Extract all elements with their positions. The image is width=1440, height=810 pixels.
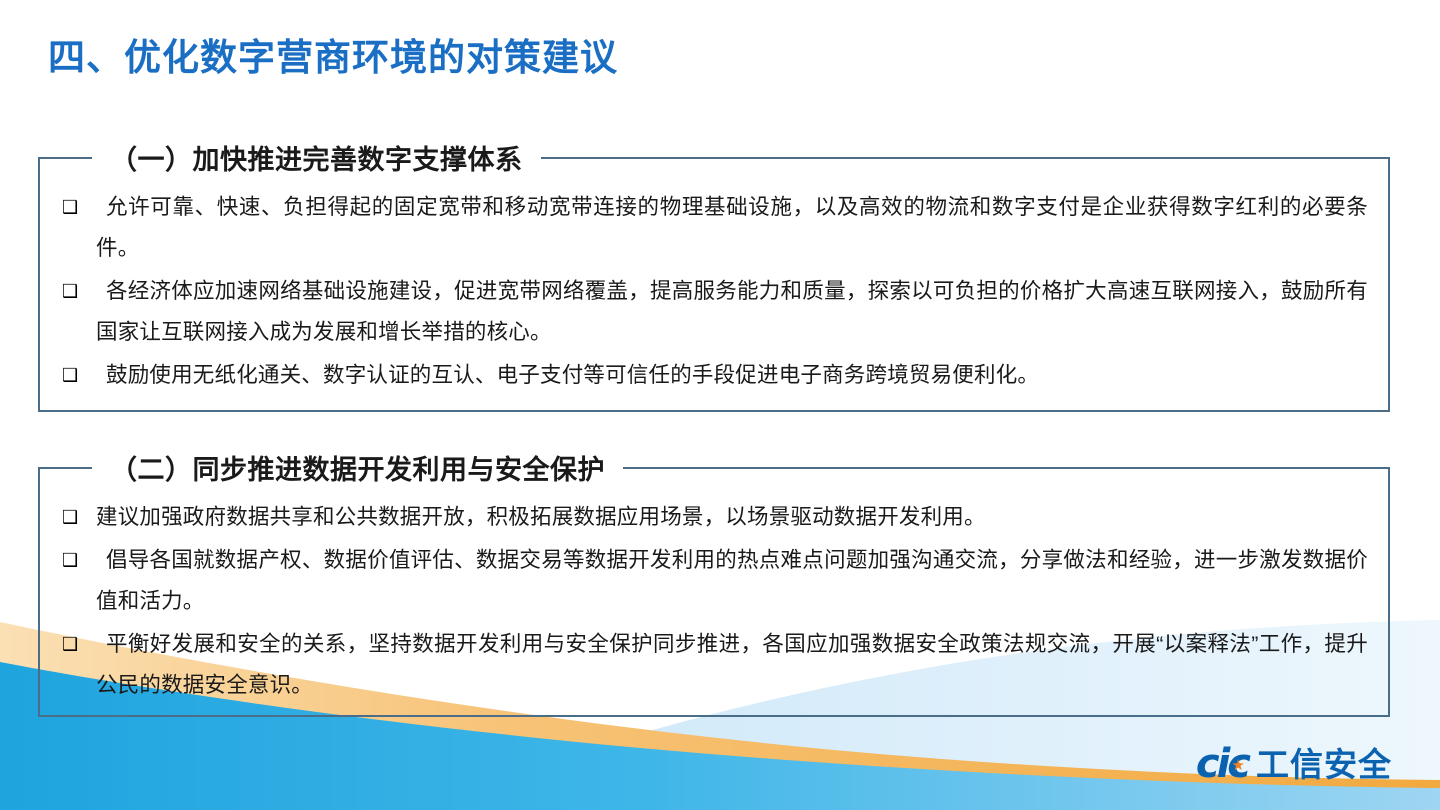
star-icon: ★ — [1232, 758, 1242, 773]
list-item-text: 鼓励使用无纸化通关、数字认证的互认、电子支付等可信任的手段促进电子商务跨境贸易便… — [96, 355, 1368, 396]
list-item-text: 允许可靠、快速、负担得起的固定宽带和移动宽带连接的物理基础设施，以及高效的物流和… — [96, 187, 1368, 269]
section-header-1: （一）加快推进完善数字支撑体系 — [92, 138, 541, 177]
section-body-1: ❑ 允许可靠、快速、负担得起的固定宽带和移动宽带连接的物理基础设施，以及高效的物… — [40, 159, 1388, 408]
list-item: ❑ 建议加强政府数据共享和公共数据开放，积极拓展数据应用场景，以场景驱动数据开发… — [58, 497, 1368, 538]
brand-name-cn: 工信安全 — [1256, 748, 1392, 781]
square-bullet-icon: ❑ — [58, 355, 96, 396]
list-item-text: 倡导各国就数据产权、数据价值评估、数据交易等数据开发利用的热点难点问题加强沟通交… — [96, 540, 1368, 622]
square-bullet-icon: ❑ — [58, 624, 96, 665]
page-title: 四、优化数字营商环境的对策建议 — [48, 36, 618, 80]
list-item: ❑ 鼓励使用无纸化通关、数字认证的互认、电子支付等可信任的手段促进电子商务跨境贸… — [58, 355, 1368, 396]
square-bullet-icon: ❑ — [58, 187, 96, 228]
square-bullet-icon: ❑ — [58, 271, 96, 312]
list-item-text: 建议加强政府数据共享和公共数据开放，积极拓展数据应用场景，以场景驱动数据开发利用… — [96, 497, 1368, 538]
section-box-2: （二）同步推进数据开发利用与安全保护 ❑ 建议加强政府数据共享和公共数据开放，积… — [38, 467, 1390, 717]
list-item-text: 各经济体应加速网络基础设施建设，促进宽带网络覆盖，提高服务能力和质量，探索以可负… — [96, 271, 1368, 353]
section-body-2: ❑ 建议加强政府数据共享和公共数据开放，积极拓展数据应用场景，以场景驱动数据开发… — [40, 469, 1388, 718]
list-item: ❑ 倡导各国就数据产权、数据价值评估、数据交易等数据开发利用的热点难点问题加强沟… — [58, 540, 1368, 622]
section-header-2: （二）同步推进数据开发利用与安全保护 — [92, 448, 623, 487]
section-box-1: （一）加快推进完善数字支撑体系 ❑ 允许可靠、快速、负担得起的固定宽带和移动宽带… — [38, 157, 1390, 412]
list-item: ❑ 各经济体应加速网络基础设施建设，促进宽带网络覆盖，提高服务能力和质量，探索以… — [58, 271, 1368, 353]
cic-wordmark-icon: cic ★ — [1196, 744, 1248, 784]
brand-logo: cic ★ 工信安全 — [1196, 742, 1392, 786]
list-item-text: 平衡好发展和安全的关系，坚持数据开发利用与安全保护同步推进，各国应加强数据安全政… — [96, 624, 1368, 706]
square-bullet-icon: ❑ — [58, 497, 96, 538]
square-bullet-icon: ❑ — [58, 540, 96, 581]
slide-canvas: 四、优化数字营商环境的对策建议 （一）加快推进完善数字支撑体系 ❑ 允许可靠、快… — [0, 0, 1440, 810]
list-item: ❑ 允许可靠、快速、负担得起的固定宽带和移动宽带连接的物理基础设施，以及高效的物… — [58, 187, 1368, 269]
list-item: ❑ 平衡好发展和安全的关系，坚持数据开发利用与安全保护同步推进，各国应加强数据安… — [58, 624, 1368, 706]
